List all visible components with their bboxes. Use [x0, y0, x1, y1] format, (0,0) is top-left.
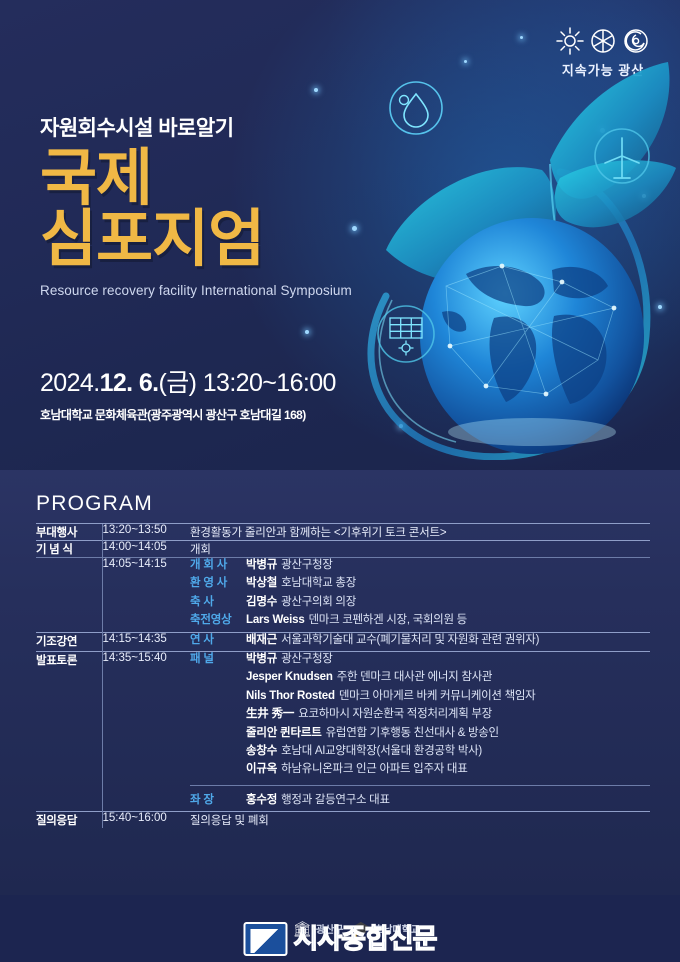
poster-title: 국제 심포지엄 [40, 148, 380, 271]
entry-affiliation: 광산구청장 [281, 652, 332, 667]
entry-role: 연 사 [190, 633, 246, 648]
entry-name: 生井 秀一 [246, 707, 294, 722]
entry-name: 박상철 [246, 576, 277, 591]
program-time: 14:05~14:15 [102, 558, 190, 633]
entry-name: Jesper Knudsen [246, 670, 333, 685]
newspaper-book-icon [243, 922, 287, 956]
entry-affiliation: 광산구청장 [281, 558, 332, 573]
chair-name: 홍수정 [246, 793, 277, 808]
program-time: 13:20~13:50 [102, 524, 190, 541]
wheel-emblem-icon [588, 26, 618, 56]
list-item: Jesper Knudsen 주한 덴마크 대사관 에너지 참사관 [190, 670, 650, 685]
program-entries: 패 널 박병규 광산구청장 Jesper Knudsen 주한 덴마크 대사관 … [190, 652, 650, 812]
entry-role: 패 널 [190, 652, 246, 667]
entry-affiliation: 요코하마시 자원순환국 적정처리계획 부장 [298, 707, 492, 722]
table-row: 발표토론 14:35~15:40 패 널 박병규 광산구청장 Jesper Kn… [36, 652, 650, 812]
venue-address: (광주광역시 광산구 호남대길 168) [147, 408, 306, 422]
entry-name: 줄리안 퀸타르트 [246, 726, 322, 741]
sun-emblem-icon [555, 26, 585, 56]
program-description: 개회 [190, 541, 650, 558]
title-block: 자원회수시설 바로알기 국제 심포지엄 Resource recovery fa… [40, 112, 380, 298]
entry-role: 축 사 [190, 595, 246, 610]
program-category: 질의응답 [36, 812, 102, 829]
list-item: 生井 秀一 요코하마시 자원순환국 적정처리계획 부장 [190, 707, 650, 722]
chair-affiliation: 행정과 갈등연구소 대표 [281, 793, 390, 808]
entry-name: 이규옥 [246, 762, 277, 777]
entry-role: 개 회 사 [190, 558, 246, 573]
table-row: 기조강연 14:15~14:35 연 사 배재근 서울과학기술대 교수(폐기물처… [36, 632, 650, 651]
program-category: 기 념 식 [36, 541, 102, 558]
entry-name: 김명수 [246, 595, 277, 610]
program-time: 15:40~16:00 [102, 812, 190, 829]
program-time: 14:15~14:35 [102, 632, 190, 651]
list-item: 이규옥 하남유니온파크 인근 아파트 입주자 대표 [190, 762, 650, 777]
chair-divider: 좌 장 홍수정 행정과 갈등연구소 대표 [190, 785, 650, 808]
event-venue: 호남대학교 문화체육관(광주광역시 광산구 호남대길 168) [40, 406, 400, 423]
entry-name: 박병규 [246, 558, 277, 573]
event-date-line: 2024.12. 6.(금) 13:20~16:00 [40, 363, 400, 399]
list-item: 송창수 호남대 AI교양대학장(서울대 환경공학 박사) [190, 744, 650, 759]
hero-section: 지속가능 광산 [0, 0, 680, 470]
entry-affiliation: 호남대학교 총장 [281, 576, 356, 591]
entry-role: 환 영 사 [190, 576, 246, 591]
entry-affiliation: 주한 덴마크 대사관 에너지 참사관 [337, 670, 493, 685]
brand-logo-marks [548, 24, 658, 58]
poster-subtitle: Resource recovery facility International… [40, 283, 380, 298]
program-description: 질의응답 및 폐회 [190, 812, 650, 829]
list-item: 연 사 배재근 서울과학기술대 교수(폐기물처리 및 자원화 관련 권위자) [190, 633, 650, 648]
date-prefix: 2024. [40, 369, 100, 397]
entry-affiliation: 덴마크 아마게르 바케 커뮤니케이션 책임자 [339, 689, 536, 704]
program-category: 기조강연 [36, 632, 102, 651]
list-item: 개 회 사 박병규 광산구청장 [190, 558, 650, 573]
list-item: 좌 장 홍수정 행정과 갈등연구소 대표 [190, 793, 650, 808]
swirl-emblem-icon [621, 26, 651, 56]
venue-name: 호남대학교 문화체육관 [40, 408, 147, 422]
table-row: 기 념 식 14:00~14:05 개회 [36, 541, 650, 558]
program-category: 발표토론 [36, 652, 102, 812]
entry-affiliation: 하남유니온파크 인근 아파트 입주자 대표 [281, 762, 467, 777]
press-watermark: 시사종합신문 [243, 922, 436, 956]
program-table: 부대행사 13:20~13:50 환경활동가 줄리안과 함께하는 <기후위기 토… [36, 523, 650, 828]
table-row: 부대행사 13:20~13:50 환경활동가 줄리안과 함께하는 <기후위기 토… [36, 524, 650, 541]
program-category: 부대행사 [36, 524, 102, 541]
poster-title-line1: 국제 [40, 144, 152, 213]
watermark-text: 시사종합신문 [293, 926, 436, 953]
entry-affiliation: 유럽연합 기후행동 친선대사 & 방송인 [326, 726, 499, 741]
date-day: (금) [159, 369, 197, 397]
program-heading: PROGRAM [36, 492, 650, 516]
entry-name: 박병규 [246, 652, 277, 667]
chair-role: 좌 장 [190, 793, 246, 808]
list-item: Nils Thor Rosted 덴마크 아마게르 바케 커뮤니케이션 책임자 [190, 689, 650, 704]
list-item: 축 사 김명수 광산구의회 의장 [190, 595, 650, 610]
entry-affiliation: 서울과학기술대 교수(폐기물처리 및 자원화 관련 권위자) [281, 633, 539, 648]
list-item: 환 영 사 박상철 호남대학교 총장 [190, 576, 650, 591]
program-time: 14:35~15:40 [102, 652, 190, 812]
list-item: 줄리안 퀸타르트 유럽연합 기후행동 친선대사 & 방송인 [190, 726, 650, 741]
program-section: PROGRAM 부대행사 13:20~13:50 환경활동가 줄리안과 함께하는… [0, 470, 680, 895]
entry-name: 송창수 [246, 744, 277, 759]
date-main: 12. 6. [100, 369, 159, 397]
entry-name: 배재근 [246, 633, 277, 648]
entry-affiliation: 광산구의회 의장 [281, 595, 356, 610]
entry-role: 축전영상 [190, 613, 246, 628]
program-category [36, 558, 102, 633]
date-time: 13:20~16:00 [196, 369, 335, 397]
entry-name: Nils Thor Rosted [246, 689, 335, 704]
program-time: 14:00~14:05 [102, 541, 190, 558]
poster: 지속가능 광산 [0, 0, 680, 962]
program-entries: 개 회 사 박병규 광산구청장 환 영 사 박상철 호남대학교 총장 축 사 김… [190, 558, 650, 633]
event-details: 2024.12. 6.(금) 13:20~16:00 호남대학교 문화체육관(광… [40, 363, 400, 423]
water-drop-icon [390, 82, 442, 134]
list-item: 축전영상 Lars Weiss 덴마크 코펜하겐 시장, 국회의원 등 [190, 613, 650, 628]
table-row: 질의응답 15:40~16:00 질의응답 및 폐회 [36, 812, 650, 829]
entry-name: Lars Weiss [246, 613, 305, 628]
program-description: 환경활동가 줄리안과 함께하는 <기후위기 토크 콘서트> [190, 524, 650, 541]
entry-affiliation: 덴마크 코펜하겐 시장, 국회의원 등 [309, 613, 467, 628]
program-entries: 연 사 배재근 서울과학기술대 교수(폐기물처리 및 자원화 관련 권위자) [190, 632, 650, 651]
table-row: 14:05~14:15 개 회 사 박병규 광산구청장 환 영 사 박상철 호남… [36, 558, 650, 633]
entry-affiliation: 호남대 AI교양대학장(서울대 환경공학 박사) [281, 744, 482, 759]
list-item: 패 널 박병규 광산구청장 [190, 652, 650, 667]
poster-title-line2: 심포지엄 [40, 209, 380, 270]
poster-kicker: 자원회수시설 바로알기 [40, 112, 380, 142]
